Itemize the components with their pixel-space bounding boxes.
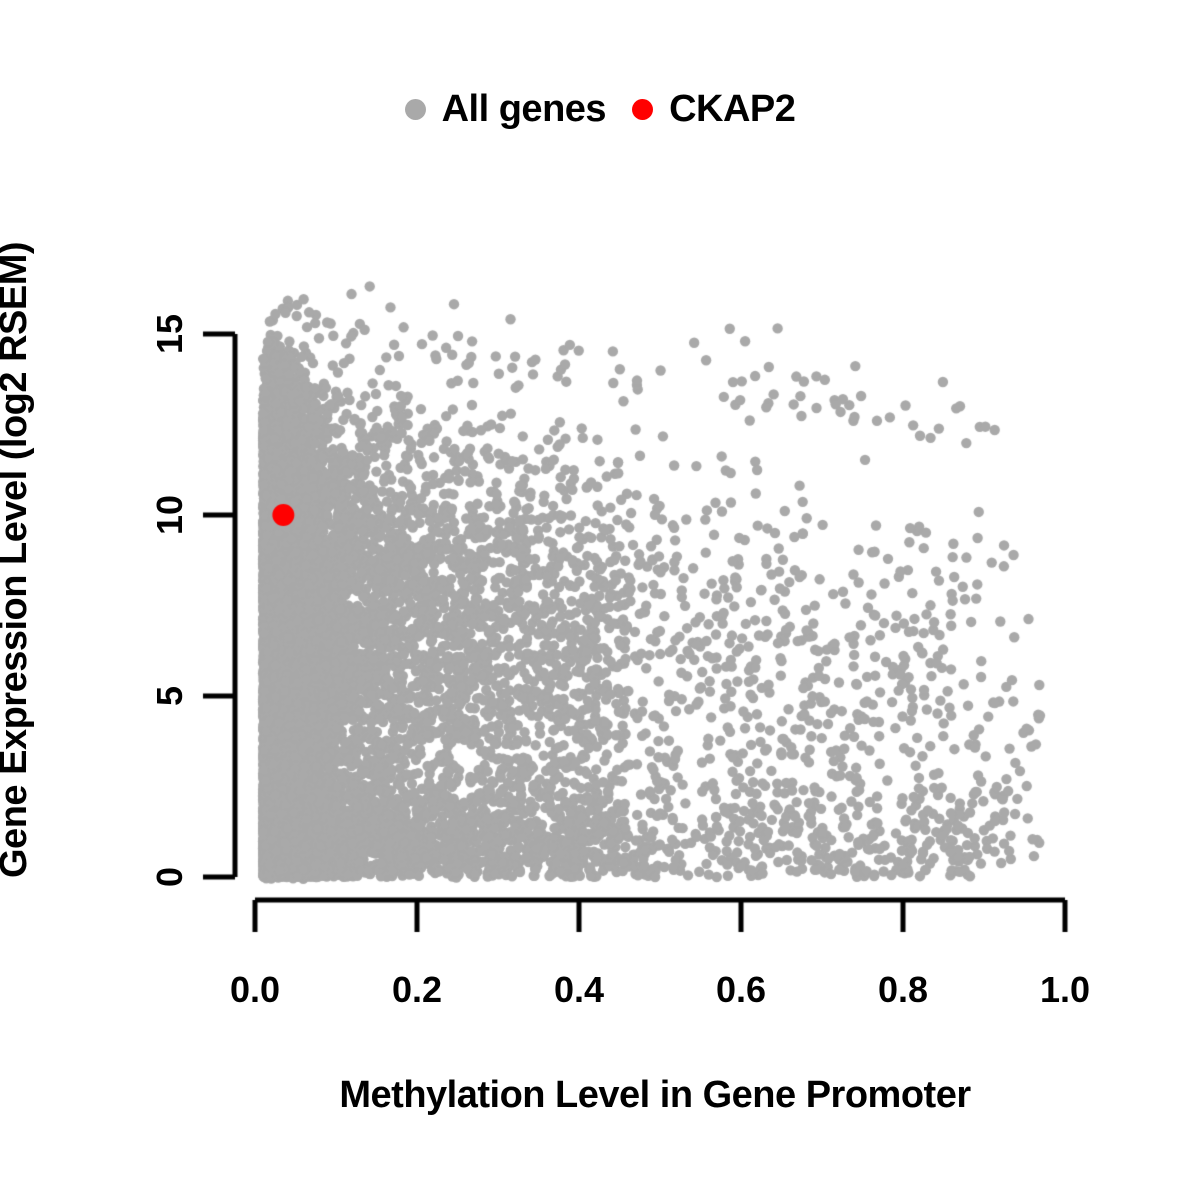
legend-item-all-genes: All genes (405, 88, 606, 131)
legend-label-all-genes: All genes (442, 88, 606, 131)
y-tick-label: 5 (152, 686, 188, 706)
legend-marker-ckap2-icon (632, 99, 653, 120)
chart-legend: All genes CKAP2 (0, 88, 1200, 131)
y-tick-label: 0 (152, 867, 188, 887)
legend-item-ckap2: CKAP2 (632, 88, 795, 131)
x-tick-label: 0.4 (554, 972, 604, 1008)
y-axis-title: Gene Expression Level (log2 RSEM) (0, 242, 33, 878)
scatter-plot-canvas (0, 0, 1200, 1200)
scatter-plot-figure: All genes CKAP2 Gene Expression Level (l… (0, 0, 1200, 1200)
y-tick-label: 15 (152, 314, 188, 354)
x-tick-label: 0.6 (716, 972, 766, 1008)
x-tick-label: 0.0 (230, 972, 280, 1008)
x-tick-label: 0.2 (392, 972, 442, 1008)
legend-label-ckap2: CKAP2 (669, 88, 795, 131)
x-tick-label: 1.0 (1040, 972, 1090, 1008)
x-tick-label: 0.8 (878, 972, 928, 1008)
y-tick-label: 10 (152, 495, 188, 535)
x-axis-title: Methylation Level in Gene Promoter (339, 1076, 970, 1114)
legend-marker-all-genes-icon (405, 99, 426, 120)
